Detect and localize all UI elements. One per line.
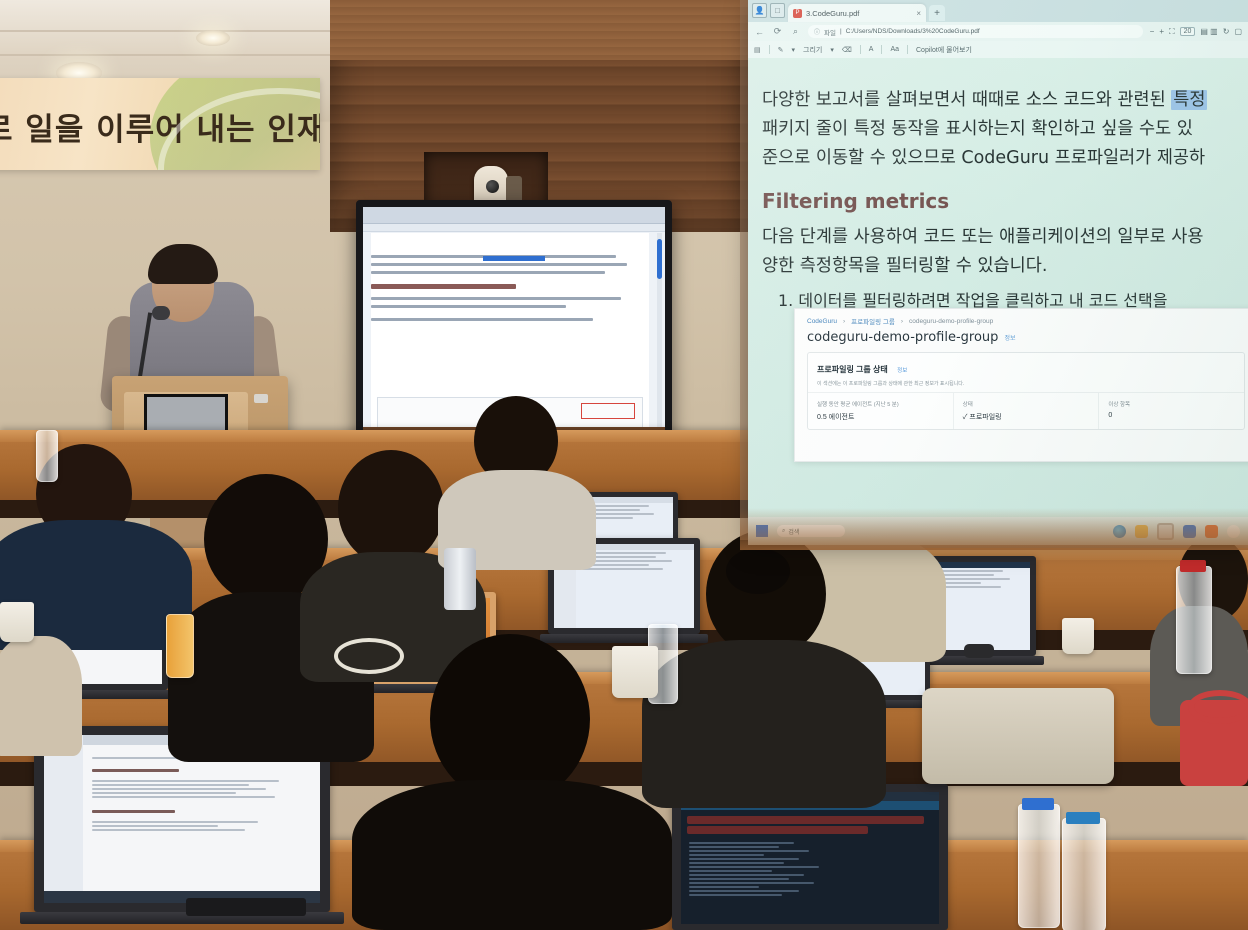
metric-label: 상태 (963, 400, 1090, 408)
laptop-edge (186, 898, 306, 916)
search-icon[interactable]: ⌕ (790, 26, 801, 37)
metric-average-agents: 실행 동안 평균 에이전트 (지난 5 분) 0.5 에이전트 (808, 393, 954, 429)
microphone-icon (152, 306, 170, 320)
toolbar-separator (881, 45, 882, 54)
toolbar-separator (907, 45, 908, 54)
projection-bottom-fade (740, 508, 1248, 550)
info-link[interactable]: 정보 (1004, 335, 1015, 342)
metric-status: 상태 ✓ 프로파일링 (954, 393, 1100, 429)
browser-tab-title: 3.CodeGuru.pdf (806, 9, 859, 18)
screenshot-root: 로 일을 이루어 내는 인재 (0, 0, 1248, 930)
wristwatch (254, 394, 268, 403)
status-panel-header: 프로파일링 그룹 상태 정보 이 섹션에는 이 프로파일링 그룹과 상태에 관한… (808, 353, 1244, 393)
paper-cup (612, 646, 658, 698)
bag-handle (1188, 690, 1248, 724)
breadcrumb: CodeGuru › 프로파일링 그룹 › codeguru-demo-prof… (795, 309, 1248, 326)
mini-browser-chrome (363, 207, 665, 224)
zoom-in-button[interactable]: + (1159, 27, 1164, 36)
highlighted-text: 특정 (1171, 90, 1207, 110)
status-metrics-row: 실행 동안 평균 에이전트 (지난 5 분) 0.5 에이전트 상태 ✓ 프로파… (808, 393, 1244, 429)
page-number-input[interactable]: 20 (1180, 27, 1196, 36)
browser-navigation-bar: ← ⟳ ⌕ ⓘ 파일 | C:/Users/NDS/Downloads/3%20… (748, 22, 1248, 41)
ceiling-seam (0, 54, 340, 56)
browser-tab[interactable]: P 3.CodeGuru.pdf × (788, 4, 926, 22)
page-layout-icon[interactable]: ▤ ▥ (1200, 27, 1217, 36)
text-select-icon[interactable]: Aa (890, 46, 899, 53)
check-circle-icon: ✓ (963, 414, 968, 421)
breadcrumb-item-codeguru[interactable]: CodeGuru (807, 318, 837, 325)
security-label: 파일 (824, 27, 836, 37)
water-bottle (36, 430, 58, 482)
address-separator: | (840, 28, 842, 35)
table-of-contents-icon[interactable]: ▤ (754, 46, 761, 54)
document-body-line: 다음 단계를 사용하여 코드 또는 애플리케이션의 일부로 사용 (762, 223, 1248, 252)
close-icon[interactable]: × (916, 9, 921, 18)
paper-cup (1062, 618, 1094, 654)
breadcrumb-item-current: codeguru-demo-profile-group (909, 318, 993, 325)
paper-cup (0, 602, 34, 642)
info-icon: ⓘ (814, 27, 820, 36)
chevron-down-icon[interactable]: ▾ (792, 46, 796, 54)
document-paragraph: 패키지 줄이 특정 동작을 표시하는지 확인하고 싶을 수도 있 (762, 115, 1248, 144)
camera-lens-icon (486, 180, 499, 193)
wall-banner-text: 로 일을 이루어 내는 인재 (0, 104, 314, 149)
pdf-toolbar: ▤ ✎ ▾ 그리기 ▾ ⌫ A Aa Copilot에 물어보기 (748, 41, 1248, 59)
mini-browser-toolbar (363, 224, 665, 232)
status-panel-title: 프로파일링 그룹 상태 (817, 365, 888, 374)
address-bar[interactable]: ⓘ 파일 | C:/Users/NDS/Downloads/3%20CodeGu… (808, 25, 1143, 38)
profile-icon[interactable]: 👤 (752, 3, 767, 18)
ceiling-seam (0, 30, 340, 32)
new-tab-button[interactable]: + (929, 5, 945, 21)
mini-scrollbar[interactable] (657, 233, 662, 433)
aws-console-screenshot: CodeGuru › 프로파일링 그룹 › codeguru-demo-prof… (794, 308, 1248, 462)
copilot-button[interactable]: Copilot에 물어보기 (916, 45, 972, 55)
page-title: codeguru-demo-profile-group정보 (795, 326, 1248, 345)
zoom-out-button[interactable]: − (1150, 27, 1155, 36)
status-panel-description: 이 섹션에는 이 프로파일링 그룹과 상태에 관한 최근 정보가 표시됩니다. (817, 380, 1235, 387)
wall-banner: 로 일을 이루어 내는 인재 (0, 78, 320, 170)
fit-page-icon[interactable]: ⛶ (1169, 27, 1175, 37)
document-paragraph: 준으로 이동할 수 있으므로 CodeGuru 프로파일러가 제공하 (762, 144, 1248, 173)
cable (334, 638, 404, 674)
draw-tool-button[interactable]: 그리기 (803, 45, 822, 55)
drink-bottle (166, 614, 194, 678)
document-heading: Filtering metrics (762, 189, 1248, 213)
hair-bun (726, 548, 790, 594)
backpack (922, 688, 1114, 784)
status-panel: 프로파일링 그룹 상태 정보 이 섹션에는 이 프로파일링 그룹과 상태에 관한… (807, 352, 1245, 430)
metric-value: 0 (1108, 412, 1235, 419)
water-bottle (1018, 804, 1060, 928)
projection-screen-edge (740, 0, 748, 540)
metric-value: ✓ 프로파일링 (963, 412, 1090, 422)
water-bottle (1062, 818, 1106, 930)
metric-label: 이상 항목 (1108, 400, 1235, 408)
browser-tab-strip: 👤 □ P 3.CodeGuru.pdf × + (748, 0, 1248, 22)
pdf-icon: P (793, 9, 802, 18)
read-aloud-icon[interactable]: A (869, 46, 874, 53)
ceiling-light (196, 30, 230, 46)
wood-wall-top-trim (330, 0, 750, 60)
info-link[interactable]: 정보 (897, 368, 907, 374)
rotate-icon[interactable]: ↻ (1223, 27, 1230, 36)
breadcrumb-separator: › (843, 318, 845, 325)
pdf-zoom-controls: − + ⛶ 20 ▤ ▥ ↻ ▢ (1150, 27, 1242, 37)
toolbar-separator (769, 45, 770, 54)
bottle-cap (1180, 560, 1206, 572)
tumbler (444, 548, 476, 610)
address-bar-url: C:/Users/NDS/Downloads/3%20CodeGuru.pdf (846, 28, 980, 35)
reading-view-icon[interactable]: ▢ (1234, 27, 1242, 36)
breadcrumb-separator: › (901, 318, 903, 325)
erase-icon[interactable]: ⌫ (842, 46, 852, 54)
mini-red-annotation-box (581, 403, 635, 419)
toolbar-separator (860, 45, 861, 54)
metric-anomalies: 이상 항목 0 (1099, 393, 1244, 429)
breadcrumb-item-profiling-groups[interactable]: 프로파일링 그룹 (851, 316, 895, 326)
refresh-icon[interactable]: ⟳ (772, 26, 783, 37)
bottle-cap (1022, 798, 1054, 810)
highlight-icon[interactable]: ✎ (778, 46, 784, 54)
metric-value: 0.5 에이전트 (817, 412, 944, 422)
water-bottle (1176, 566, 1212, 674)
back-icon[interactable]: ← (754, 27, 765, 37)
document-body-line: 양한 측정항목을 필터링할 수 있습니다. (762, 252, 1248, 281)
chevron-down-icon[interactable]: ▾ (830, 46, 834, 54)
tab-list-icon[interactable]: □ (770, 3, 785, 18)
pdf-page: 다양한 보고서를 살펴보면서 때때로 소스 코드와 관련된 특정 패키지 줄이 … (748, 58, 1248, 517)
bottle-cap (1066, 812, 1100, 824)
mini-highlight (483, 256, 545, 261)
projected-browser-window: 👤 □ P 3.CodeGuru.pdf × + ← ⟳ ⌕ ⓘ 파일 | C:… (748, 0, 1248, 545)
document-paragraph: 다양한 보고서를 살펴보면서 때때로 소스 코드와 관련된 특정 (762, 86, 1248, 115)
metric-label: 실행 동안 평균 에이전트 (지난 5 분) (817, 400, 944, 408)
computer-mouse (964, 644, 994, 658)
